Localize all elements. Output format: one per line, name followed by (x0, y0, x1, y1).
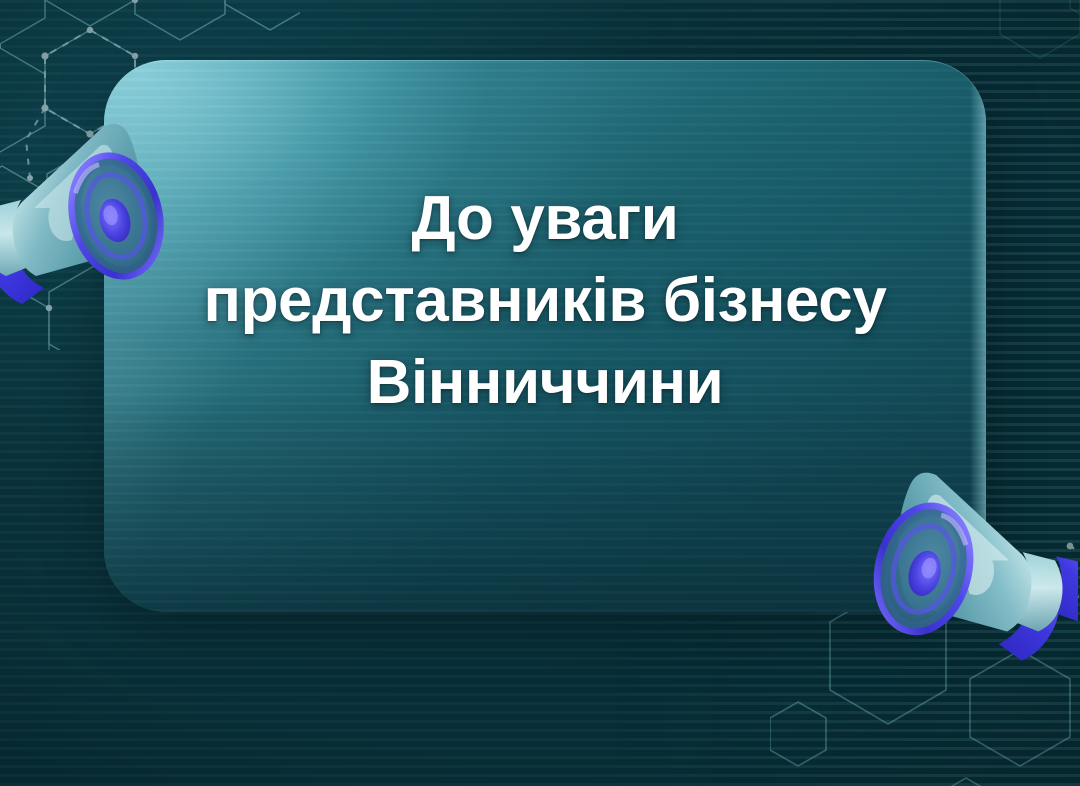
card-scanlines (104, 60, 986, 612)
card-sheen (104, 60, 986, 612)
card-edge-highlight (970, 60, 986, 612)
card-bottom-fade (104, 392, 986, 612)
content-card (104, 60, 986, 612)
poster-canvas: До уваги представників бізнесу Вінниччин… (0, 0, 1080, 786)
